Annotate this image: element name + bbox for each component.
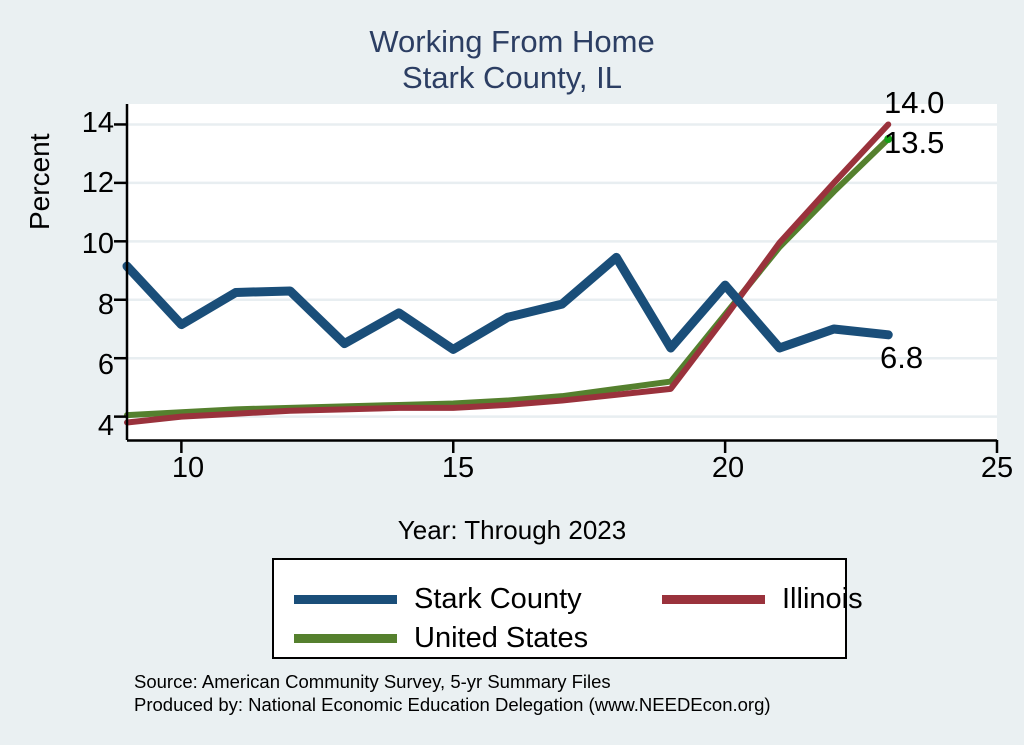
- y-tick-14: 14: [52, 107, 114, 140]
- footnote-produced-by: Produced by: National Economic Education…: [134, 693, 771, 716]
- legend-label-united-states: United States: [414, 622, 588, 655]
- x-tick-20: 20: [698, 452, 758, 485]
- endpoint-label-illinois: 14.0: [884, 85, 944, 121]
- y-tick-12: 12: [52, 167, 114, 200]
- x-axis-label: Year: Through 2023: [0, 515, 1024, 546]
- legend-swatch-illinois-icon: [662, 595, 765, 604]
- x-tick-25: 25: [967, 452, 1024, 485]
- legend-item-stark-county[interactable]: Stark County: [294, 583, 582, 616]
- footnote-source: Source: American Community Survey, 5-yr …: [134, 670, 771, 693]
- y-tick-4: 4: [52, 410, 114, 443]
- legend-swatch-stark-county-icon: [294, 595, 397, 604]
- y-tick-6: 6: [52, 349, 114, 382]
- legend-swatch-united-states-icon: [294, 634, 397, 643]
- chart-legend: Stark County United States Illinois: [272, 558, 847, 659]
- y-tick-10: 10: [52, 228, 114, 261]
- y-tick-8: 8: [52, 289, 114, 322]
- chart-root: Working From HomeStark County, IL Percen…: [0, 0, 1024, 745]
- x-tick-15: 15: [428, 452, 488, 485]
- endpoint-label-stark-county: 6.8: [880, 340, 923, 376]
- footnote: Source: American Community Survey, 5-yr …: [134, 670, 771, 716]
- endpoint-label-united-states: 13.5: [884, 125, 944, 161]
- plot-background: [127, 104, 997, 440]
- legend-label-illinois: Illinois: [782, 583, 863, 616]
- legend-item-illinois[interactable]: Illinois: [662, 583, 863, 616]
- legend-item-united-states[interactable]: United States: [294, 622, 588, 655]
- legend-label-stark-county: Stark County: [414, 583, 582, 616]
- x-tick-10: 10: [158, 452, 218, 485]
